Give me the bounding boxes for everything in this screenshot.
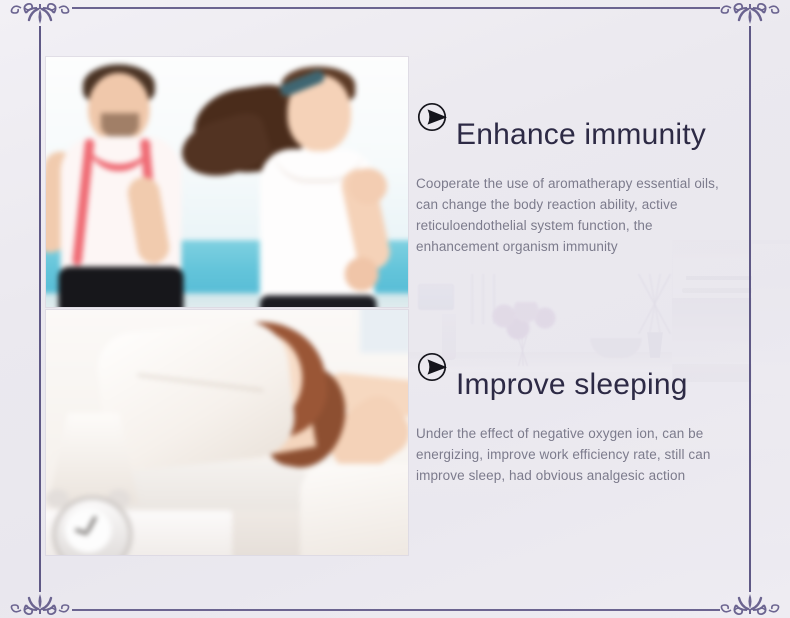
man-shorts	[58, 267, 183, 307]
bedroom-window	[360, 310, 409, 354]
feature-header: Improve sleeping	[416, 350, 772, 412]
sleeping-woman-photo	[46, 310, 408, 555]
feature-description: Under the effect of negative oxygen ion,…	[416, 424, 734, 487]
watermark-oven-slit	[686, 276, 754, 280]
watermark-plant	[628, 274, 684, 334]
play-arrow-icon	[416, 350, 450, 384]
watermark-flowers	[488, 302, 558, 344]
running-couple-photo	[46, 57, 408, 307]
feature-title: Enhance immunity	[456, 118, 706, 151]
feature-header: Enhance immunity	[416, 100, 772, 162]
flourish-ornament-bottom-right-icon	[717, 592, 783, 618]
woman-shorts	[260, 295, 377, 307]
feature-block-improve-sleeping: Improve sleeping Under the effect of neg…	[416, 350, 772, 487]
watermark-tablet	[418, 284, 454, 310]
flourish-ornament-top-right-icon	[717, 0, 783, 26]
man-beard	[101, 113, 139, 138]
duvet	[300, 464, 408, 555]
frame-line-top	[72, 7, 720, 9]
woman-fist-lower	[345, 257, 379, 291]
sleeping-woman-photo-content	[46, 310, 408, 555]
feature-description: Cooperate the use of aromatherapy essent…	[416, 174, 734, 258]
feature-title: Improve sleeping	[456, 368, 688, 401]
frame-line-bottom	[72, 609, 720, 611]
frame-line-left	[39, 26, 41, 592]
feature-banner: Enhance immunity Cooperate the use of ar…	[0, 0, 790, 618]
feature-block-enhance-immunity: Enhance immunity Cooperate the use of ar…	[416, 100, 772, 258]
running-couple-photo-content	[46, 57, 408, 307]
flourish-ornament-top-left-icon	[7, 0, 73, 26]
play-arrow-icon	[416, 100, 450, 134]
flourish-ornament-bottom-left-icon	[7, 592, 73, 618]
woman-fist-upper	[349, 168, 387, 204]
